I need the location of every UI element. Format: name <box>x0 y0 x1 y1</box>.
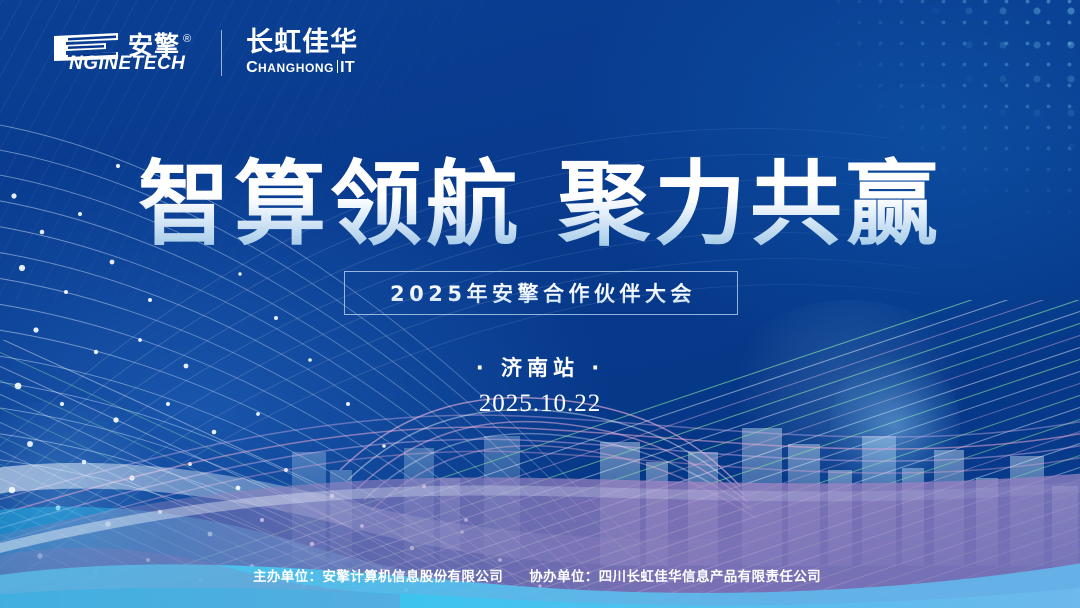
changhong-en-name: CHANGHONGIT <box>246 59 355 77</box>
registered-trademark-icon: ® <box>183 33 191 45</box>
event-station: · 济南站 · <box>0 352 1080 382</box>
changhong-logo[interactable]: 长虹佳华 CHANGHONGIT <box>246 28 358 77</box>
changhong-en-rest: HANGHONG <box>258 59 334 77</box>
event-date: 2025.10.22 <box>0 390 1080 418</box>
logo-bar: 安擎 ® NGINETECH 长虹佳华 CHANGHONGIT <box>52 28 358 77</box>
changhong-it-suffix: IT <box>340 59 355 77</box>
host-organizer-label: 主办单位：安擎计算机信息股份有限公司 <box>253 569 503 585</box>
event-poster: 安擎 ® NGINETECH 长虹佳华 CHANGHONGIT 智算领航 聚力共… <box>0 0 1080 608</box>
enginetech-logo[interactable]: 安擎 ® NGINETECH <box>52 32 191 73</box>
page-title: 智算领航 聚力共赢 <box>0 153 1080 257</box>
footer-organizers: 主办单位：安擎计算机信息股份有限公司协办单位：四川长虹佳华信息产品有限责任公司 <box>0 565 1080 585</box>
logo-divider <box>221 30 222 76</box>
changhong-en-divider <box>337 60 338 73</box>
subtitle-text: 2025年安擎合作伙伴大会 <box>386 278 696 308</box>
subtitle-box: 2025年安擎合作伙伴大会 <box>344 271 738 315</box>
changhong-cn-name: 长虹佳华 <box>246 28 358 58</box>
co-host-organizer-label: 协办单位：四川长虹佳华信息产品有限责任公司 <box>529 569 821 585</box>
enginetech-wordmark: NGINETECH <box>69 54 185 73</box>
changhong-en-initial: C <box>246 59 258 77</box>
